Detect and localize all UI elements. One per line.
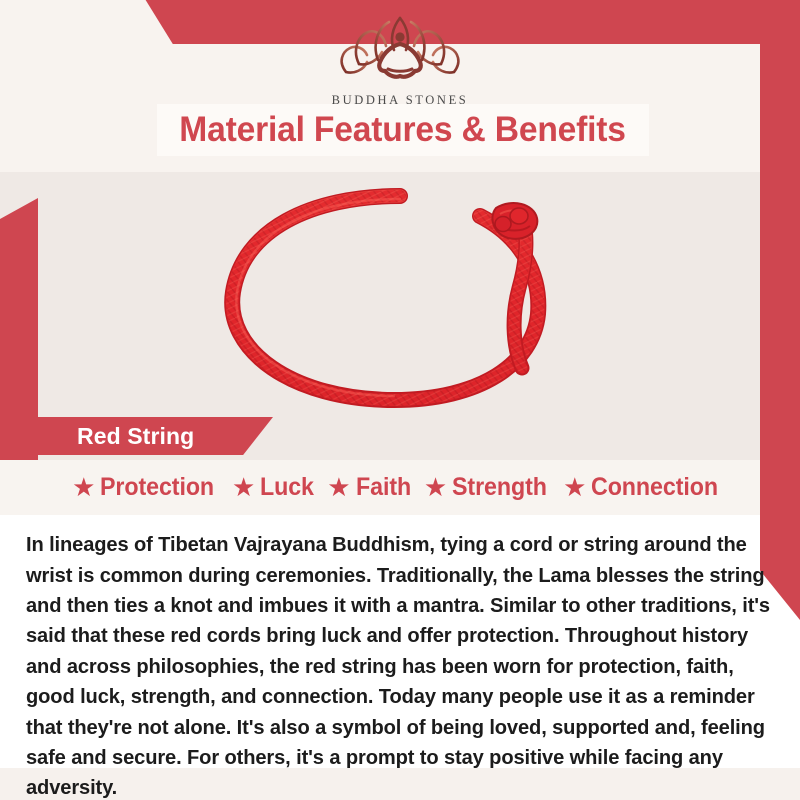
product-info-poster: BUDDHA STONES Material Features & Benefi… (0, 0, 800, 800)
page-title: Material Features & Benefits (180, 110, 627, 150)
benefit-label: Luck (260, 473, 314, 502)
benefit-item-protection: ★ Protection (72, 473, 223, 502)
description-paragraph: In lineages of Tibetan Vajrayana Buddhis… (26, 530, 774, 800)
benefit-label: Strength (452, 473, 547, 502)
star-icon: ★ (563, 474, 586, 500)
benefit-item-faith: ★ Faith (327, 473, 415, 502)
product-image-red-string-bracelet (0, 168, 800, 430)
benefit-item-connection: ★ Connection (563, 473, 728, 502)
star-icon: ★ (72, 474, 95, 500)
benefit-label: Faith (356, 473, 411, 502)
star-icon: ★ (232, 474, 255, 500)
section-label-banner: Red String (24, 417, 273, 455)
brand-logo: BUDDHA STONES (0, 14, 800, 108)
lotus-meditation-figure-icon (0, 14, 800, 91)
star-icon: ★ (327, 474, 350, 500)
benefit-item-strength: ★ Strength (424, 473, 554, 502)
benefits-list: ★ Protection ★ Luck ★ Faith ★ Strength ★… (0, 466, 800, 508)
section-label-text: Red String (77, 423, 194, 450)
benefit-label: Connection (591, 473, 718, 502)
title-banner: Material Features & Benefits (157, 104, 649, 156)
benefit-item-luck: ★ Luck (232, 473, 318, 502)
benefit-label: Protection (100, 473, 214, 502)
star-icon: ★ (424, 474, 447, 500)
